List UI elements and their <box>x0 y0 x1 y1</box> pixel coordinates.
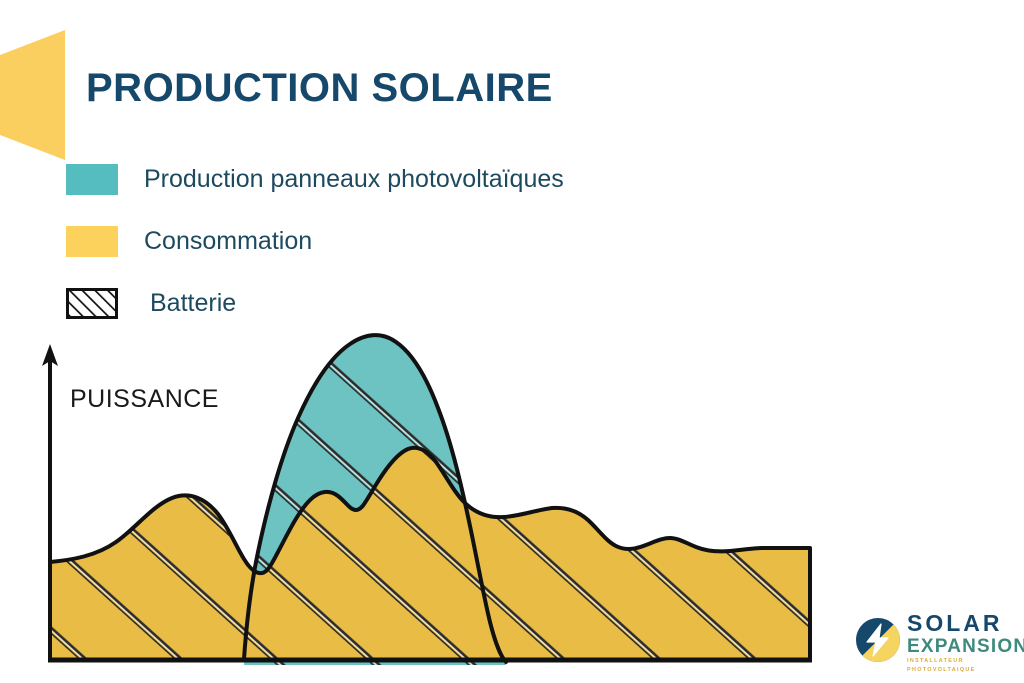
solar-expansion-logo: SOLAR EXPANSION INSTALLATEUR PHOTOVOLTAI… <box>855 611 1015 671</box>
teal-swatch-icon <box>66 164 118 195</box>
legend-item-production: Production panneaux photovoltaïques <box>66 148 564 210</box>
hatched-swatch-icon <box>66 288 118 319</box>
logo-wordmark: SOLAR EXPANSION INSTALLATEUR PHOTOVOLTAI… <box>907 611 1017 675</box>
legend-label-consommation: Consommation <box>144 227 312 256</box>
logo-tagline: INSTALLATEUR PHOTOVOLTAIQUE <box>907 657 1017 675</box>
yellow-swatch-icon <box>66 226 118 257</box>
legend-item-consommation: Consommation <box>66 210 564 272</box>
logo-line-expansion: EXPANSION <box>907 636 1017 657</box>
corner-accent-shape <box>0 30 80 160</box>
legend-label-batterie: Batterie <box>150 289 236 318</box>
legend-label-production: Production panneaux photovoltaïques <box>144 165 564 194</box>
solar-production-area-chart <box>0 330 860 675</box>
chart-legend: Production panneaux photovoltaïques Cons… <box>66 148 564 334</box>
y-axis-label: PUISSANCE <box>70 385 219 414</box>
legend-item-batterie: Batterie <box>66 272 564 334</box>
logo-mark-icon <box>855 617 901 663</box>
solar-production-infographic: PRODUCTION SOLAIRE Production panneaux p… <box>0 0 1024 683</box>
logo-line-solar: SOLAR <box>907 611 1017 636</box>
page-title: PRODUCTION SOLAIRE <box>86 66 553 111</box>
